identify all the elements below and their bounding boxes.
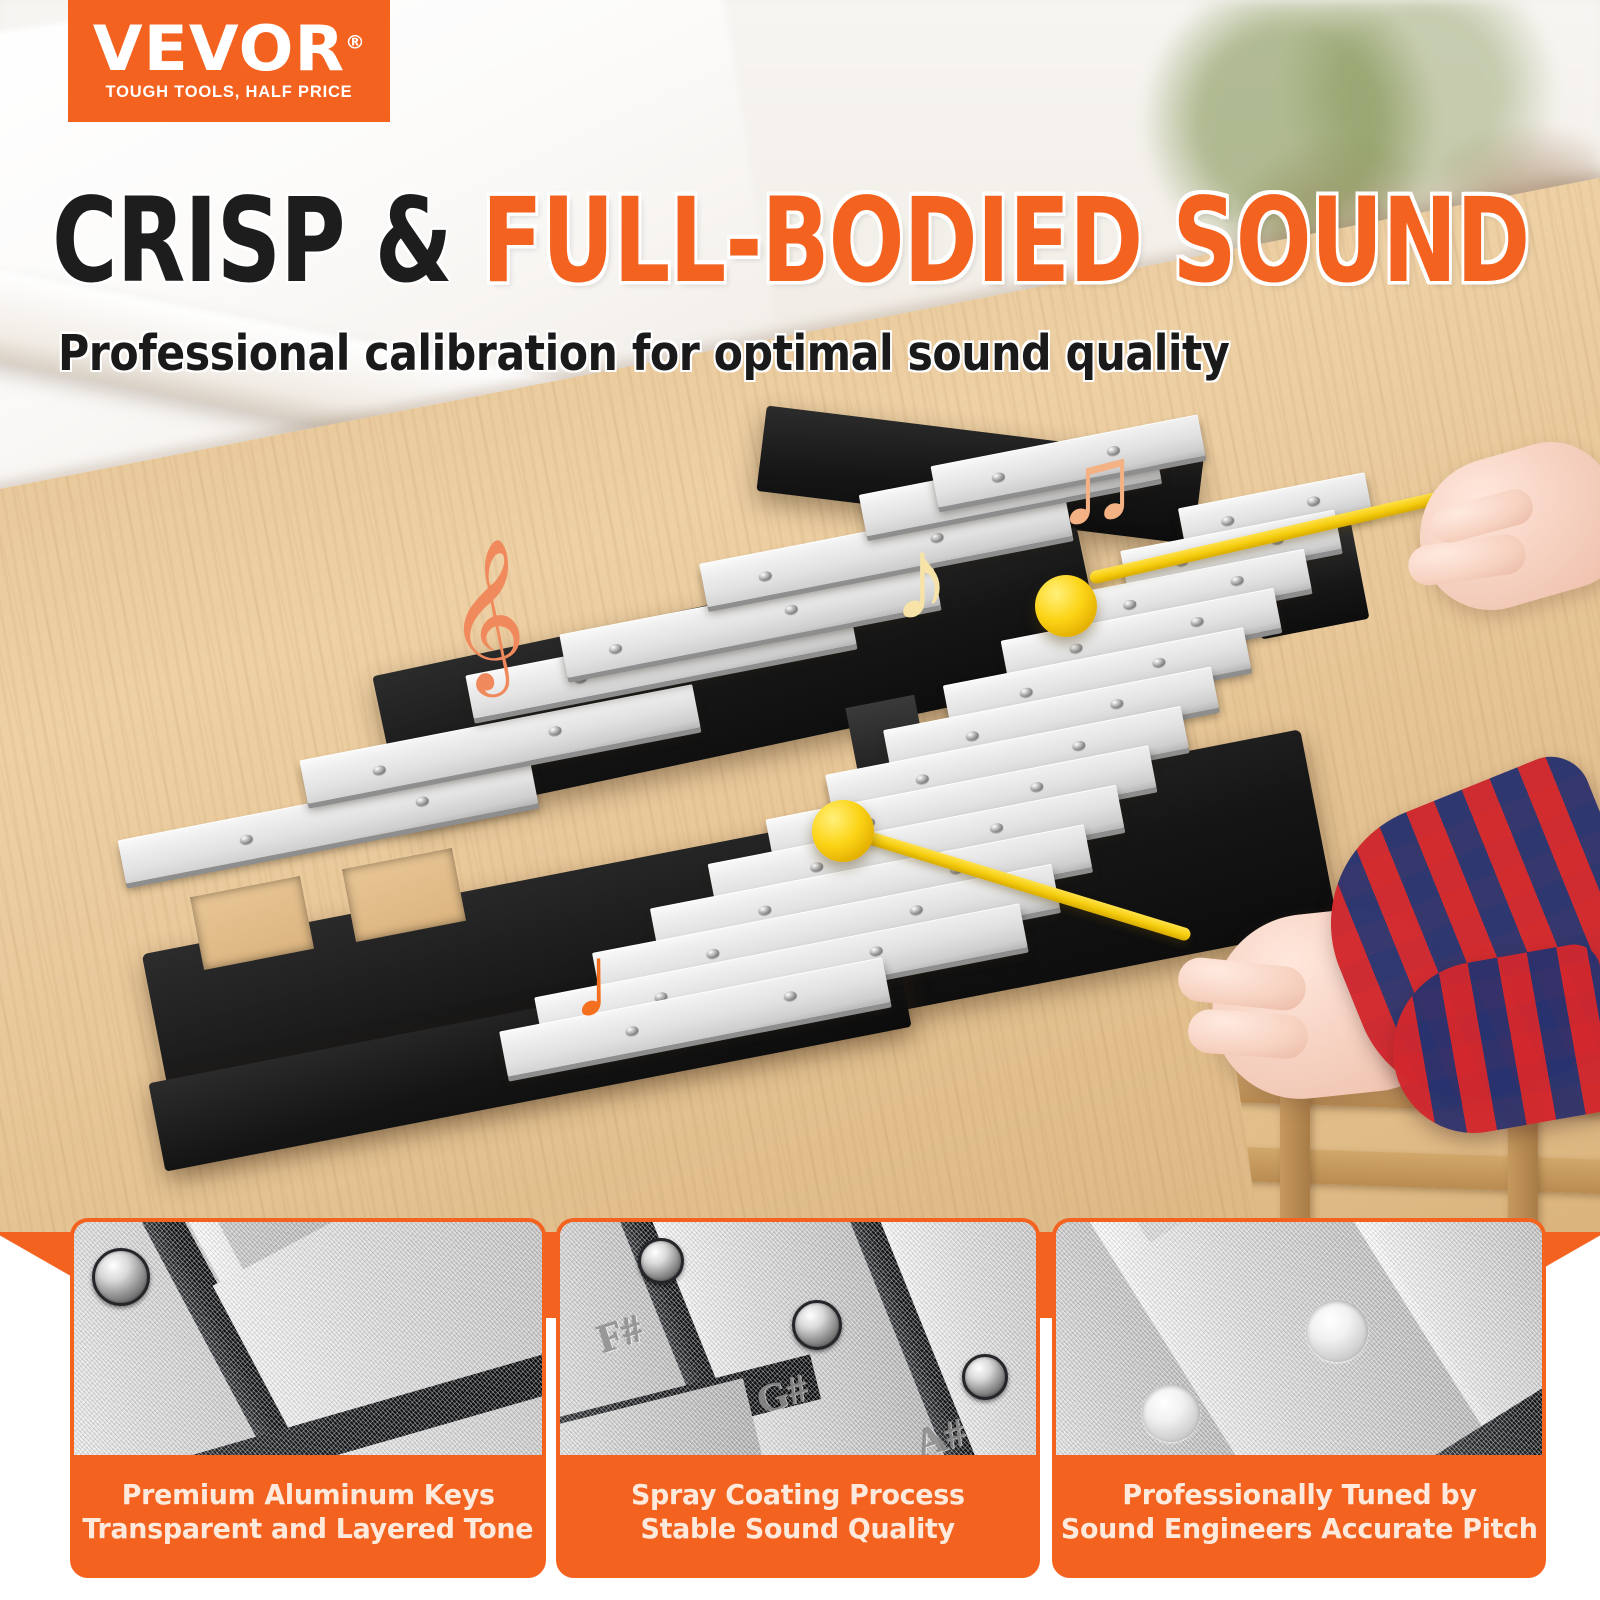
caption-line-1: Spray Coating Process — [631, 1479, 965, 1511]
tuning-dimple-icon — [1306, 1300, 1368, 1362]
logo-wordmark: VEVOR® — [92, 20, 365, 79]
vevor-logo[interactable]: VEVOR® TOUGH TOOLS, HALF PRICE — [68, 0, 390, 122]
feature-photo-professionally-tuned — [1056, 1222, 1542, 1455]
caption-line-1: Professionally Tuned by — [1122, 1479, 1476, 1511]
finger-lower-middle — [1187, 1008, 1310, 1060]
beamed-notes-icon: ♫ — [1055, 428, 1139, 540]
feature-panel-professionally-tuned[interactable]: Professionally Tuned by Sound Engineers … — [1052, 1218, 1546, 1578]
screw-icon — [92, 1248, 150, 1306]
page-subtitle: Professional calibration for optimal sou… — [58, 325, 1229, 382]
feature-caption-premium-aluminum-keys: Premium Aluminum Keys Transparent and La… — [74, 1455, 542, 1574]
mallet-upper-head[interactable] — [1035, 575, 1097, 637]
product-banner: 𝄞 ♪ ♫ ♩ VEVOR® TOUGH TOOLS, HALF PRICE C… — [0, 0, 1600, 1600]
headline-part-orange: FULL-BODIED SOUND — [482, 172, 1529, 309]
caption-line-2: Stable Sound Quality — [641, 1513, 955, 1545]
feature-caption-spray-coating-process: Spray Coating Process Stable Sound Quali… — [560, 1455, 1036, 1574]
feature-panel-spray-coating-process[interactable]: F# G# A# Spray Coating Process Stable So… — [556, 1218, 1040, 1578]
caption-line-2: Transparent and Layered Tone — [83, 1513, 534, 1545]
logo-brand-name: VEVOR — [92, 12, 344, 85]
mallet-lower-head[interactable] — [812, 800, 874, 862]
quarter-note-icon: ♩ — [572, 930, 676, 1034]
page-title: CRISP & FULL-BODIED SOUND — [52, 182, 1529, 299]
feature-caption-professionally-tuned: Professionally Tuned by Sound Engineers … — [1056, 1455, 1542, 1574]
logo-tagline: TOUGH TOOLS, HALF PRICE — [106, 83, 353, 102]
feature-photo-premium-aluminum-keys — [74, 1222, 542, 1455]
screw-icon — [792, 1300, 842, 1350]
caption-line-2: Sound Engineers Accurate Pitch — [1061, 1513, 1538, 1545]
caption-line-1: Premium Aluminum Keys — [122, 1479, 495, 1511]
screw-icon — [962, 1354, 1008, 1400]
headline-part-black: CRISP & — [52, 172, 452, 309]
registered-trademark-icon: ® — [345, 31, 366, 53]
feature-photo-spray-coating-process: F# G# A# — [560, 1222, 1036, 1455]
treble-clef-icon: 𝄞 — [448, 548, 526, 680]
screw-icon — [638, 1238, 684, 1284]
eighth-note-icon: ♪ — [892, 520, 951, 638]
feature-panel-premium-aluminum-keys[interactable]: Premium Aluminum Keys Transparent and La… — [70, 1218, 546, 1578]
feature-panel-list: Premium Aluminum Keys Transparent and La… — [0, 1218, 1600, 1600]
tuning-dimple-icon — [1142, 1384, 1200, 1442]
